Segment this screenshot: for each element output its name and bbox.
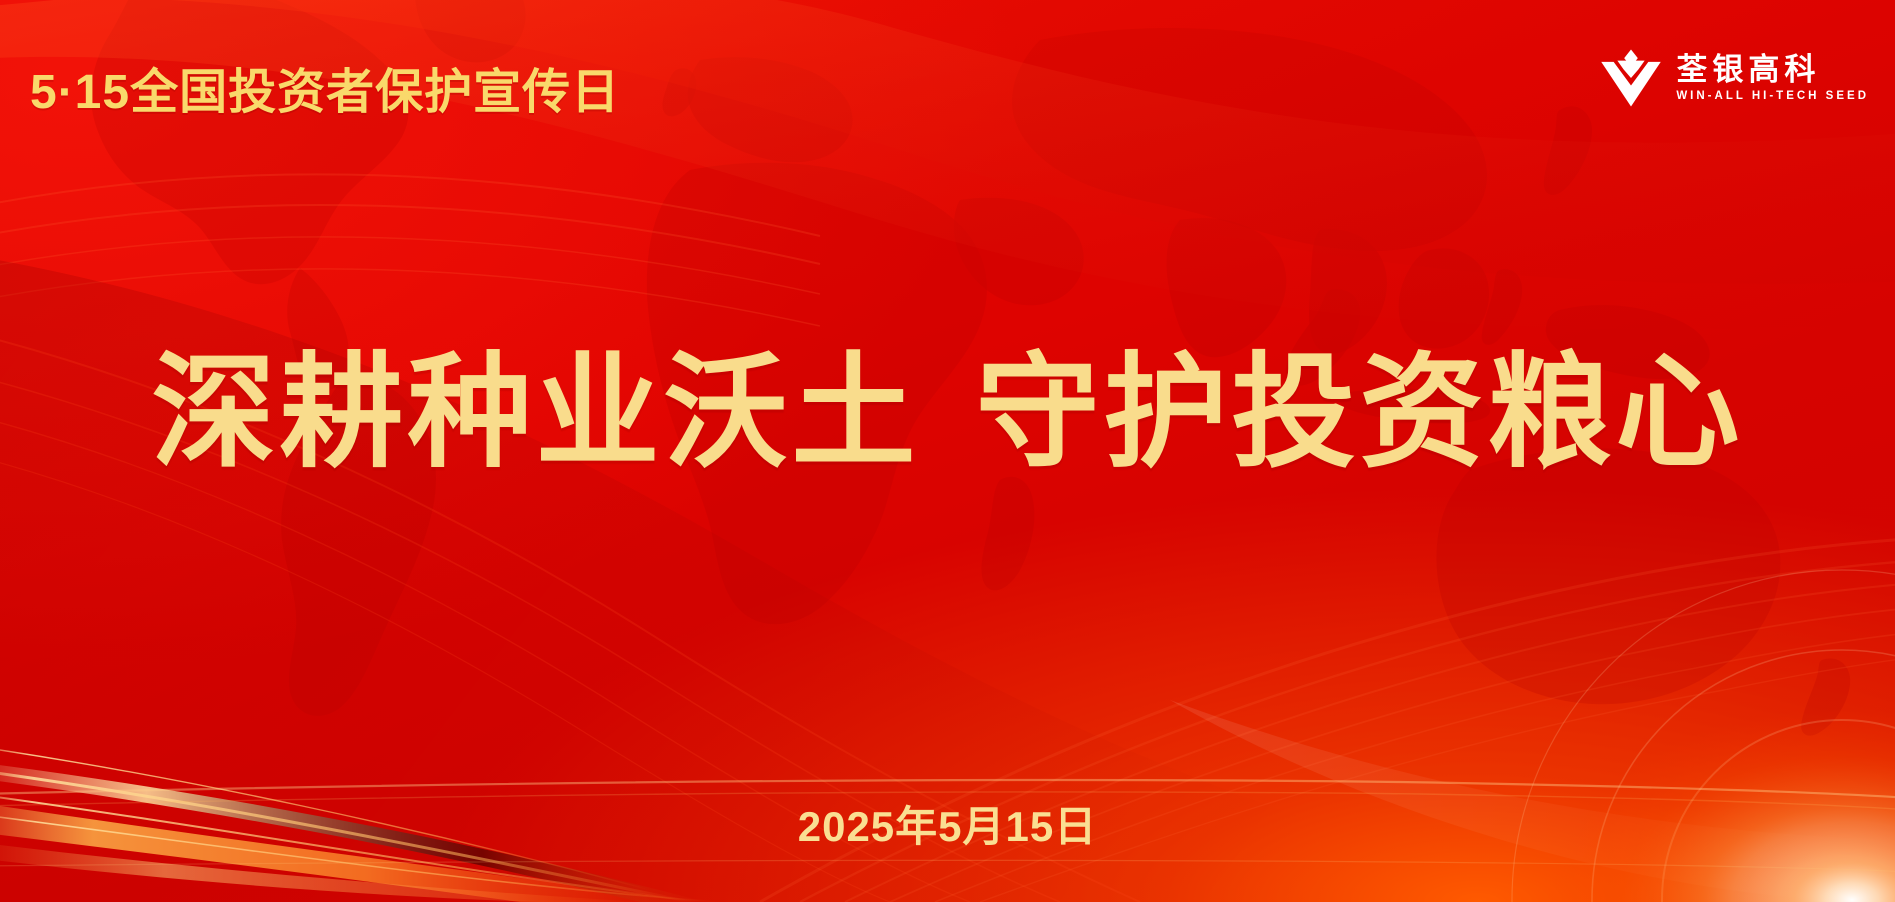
main-headline: 深耕种业沃土守护投资粮心 <box>0 347 1895 481</box>
investor-protection-banner: 5·15全国投资者保护宣传日 <box>0 0 1895 902</box>
event-date: 2025年5月15日 <box>0 793 1895 854</box>
brand-text: 荃银高科 WIN-ALL HI-TECH SEED <box>1676 54 1869 102</box>
brand-logo: 荃银高科 WIN-ALL HI-TECH SEED <box>1600 48 1869 108</box>
headline-part-1: 深耕种业沃土 <box>151 344 919 482</box>
brand-name-en: WIN-ALL HI-TECH SEED <box>1676 90 1869 102</box>
banner-header: 5·15全国投资者保护宣传日 <box>0 0 1895 160</box>
brand-name-cn: 荃银高科 <box>1676 54 1820 87</box>
headline-part-2: 守护投资粮心 <box>976 344 1744 482</box>
chevron-seed-logo-icon <box>1600 48 1662 108</box>
event-title: 5·15全国投资者保护宣传日 <box>30 52 620 122</box>
